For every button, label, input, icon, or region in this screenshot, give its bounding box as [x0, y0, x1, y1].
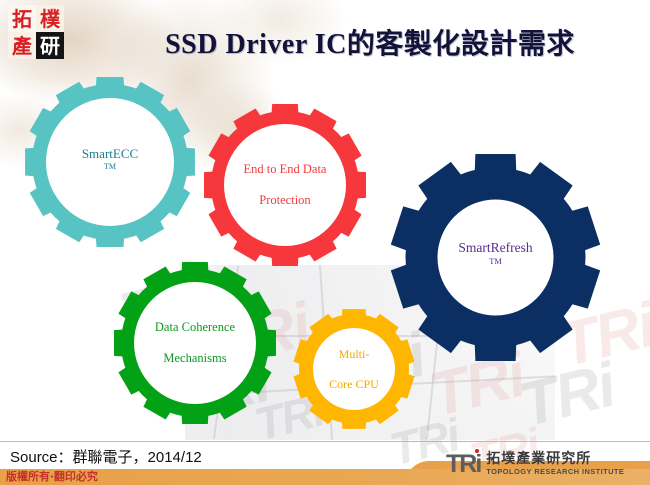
seal-char-1: 拓: [8, 5, 36, 32]
footer-divider: [0, 441, 650, 442]
tri-seal-logo: 拓 樸 產 研: [8, 5, 64, 59]
tri-name-cn: 拓墣產業研究所: [486, 452, 624, 467]
watermark-tri: TRi: [513, 350, 621, 442]
tri-name-en: TOPOLOGY RESEARCH INSTITUTE: [486, 467, 624, 476]
page-title: SSD Driver IC的客製化設計需求: [110, 22, 630, 62]
tri-brand-names: 拓墣產業研究所 TOPOLOGY RESEARCH INSTITUTE: [486, 452, 624, 476]
gear-end-to-end-data-protection[interactable]: End to End Data Protection: [203, 103, 367, 267]
gear-smart-refresh[interactable]: SmartRefreshTM: [390, 152, 601, 363]
gear-shape-green: [114, 262, 276, 424]
copyright-text: 版權所有‧翻印必究: [6, 469, 98, 485]
slide-canvas: TRi TRi TRi TRi TRi TRi TRi TRi TRi TRi …: [0, 0, 650, 485]
seal-char-2: 樸: [36, 5, 64, 32]
tri-dot-icon: [475, 449, 479, 453]
source-note: Source：群聯電子，2014/12: [10, 446, 202, 467]
tri-wordmark: TRi: [446, 452, 480, 477]
seal-char-4: 研: [36, 32, 64, 59]
gear-shape-red: [204, 104, 366, 266]
seal-char-3: 產: [8, 32, 36, 59]
gear-shape-navy: [391, 154, 600, 361]
gear-smart-ecc[interactable]: SmartECCTM: [24, 76, 196, 248]
tri-brand-logo: TRi 拓墣產業研究所 TOPOLOGY RESEARCH INSTITUTE: [446, 452, 624, 482]
gear-data-coherence-mechanisms[interactable]: Data Coherence Mechanisms: [113, 261, 277, 425]
gear-shape-teal: [25, 77, 195, 247]
